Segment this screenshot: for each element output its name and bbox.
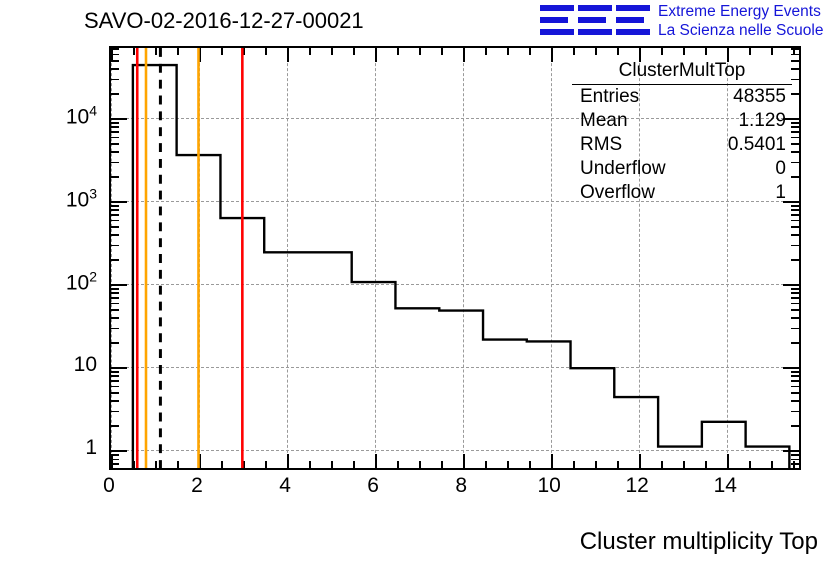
x-tick-label: 10 xyxy=(538,474,561,498)
stats-row: Entries48355 xyxy=(572,85,792,109)
stats-row-value: 0.5401 xyxy=(728,134,786,156)
y-tick-label: 10 xyxy=(74,353,104,377)
stats-row-key: Entries xyxy=(580,86,639,108)
x-tick-label: 6 xyxy=(367,474,379,498)
root-canvas: SAVO-02-2016-12-27-00021 Extreme Energy … xyxy=(0,0,836,572)
y-tick-label: 102 xyxy=(66,269,104,296)
x-tick-label: 0 xyxy=(103,474,115,498)
y-tick-label: 1 xyxy=(85,436,104,460)
y-tick-label: 103 xyxy=(66,186,104,213)
x-tick-label: 4 xyxy=(279,474,291,498)
y-minor-tick xyxy=(111,469,119,471)
eee-logo-line2: La Scienza nelle Scuole xyxy=(658,21,823,40)
stats-row-key: Mean xyxy=(580,110,628,132)
stats-box: ClusterMultTop Entries48355Mean1.129RMS0… xyxy=(572,60,792,205)
stats-row-value: 1.129 xyxy=(738,110,786,132)
eee-logo-line1: Extreme Energy Events xyxy=(658,3,821,20)
eee-logo-mark xyxy=(540,4,650,38)
stats-row: Mean1.129 xyxy=(572,109,792,133)
x-tick-label: 2 xyxy=(191,474,203,498)
x-axis-title: Cluster multiplicity Top xyxy=(580,528,818,556)
stats-row: RMS0.5401 xyxy=(572,133,792,157)
x-tick-label: 12 xyxy=(626,474,649,498)
page-title: SAVO-02-2016-12-27-00021 xyxy=(84,8,364,34)
y-tick-label: 104 xyxy=(66,103,104,130)
x-axis-labels: 02468101214 xyxy=(109,474,801,506)
stats-row-value: 1 xyxy=(775,182,786,204)
eee-logo-text: Extreme Energy Events La Scienza nelle S… xyxy=(658,2,823,40)
stats-row-value: 0 xyxy=(775,158,786,180)
y-axis-labels: 110102103104 xyxy=(0,46,104,470)
stats-row: Overflow1 xyxy=(572,181,792,205)
y-minor-tick xyxy=(791,469,799,471)
x-tick-label: 8 xyxy=(455,474,467,498)
x-tick-label: 14 xyxy=(714,474,737,498)
stats-rows: Entries48355Mean1.129RMS0.5401Underflow0… xyxy=(572,85,792,205)
eee-logo: Extreme Energy Events La Scienza nelle S… xyxy=(540,2,836,42)
stats-title: ClusterMultTop xyxy=(572,60,792,85)
stats-row-key: Overflow xyxy=(580,182,655,204)
stats-row-key: Underflow xyxy=(580,158,666,180)
stats-row-key: RMS xyxy=(580,134,622,156)
stats-row-value: 48355 xyxy=(733,86,786,108)
stats-row: Underflow0 xyxy=(572,157,792,181)
